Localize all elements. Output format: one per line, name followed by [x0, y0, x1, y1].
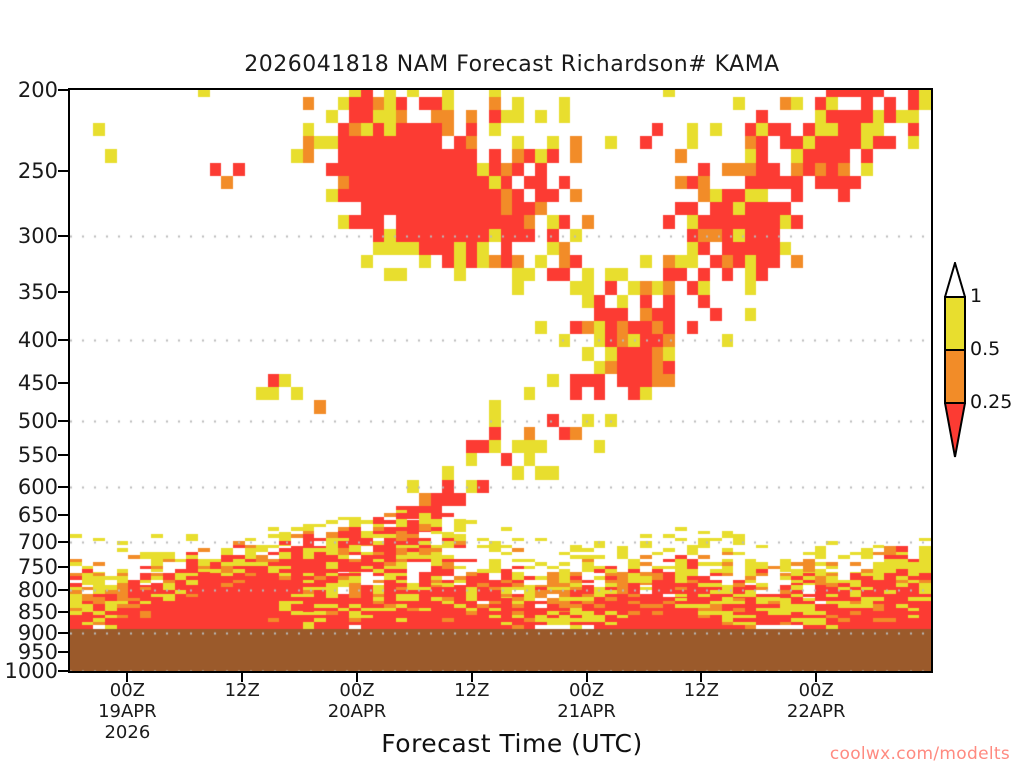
y-axis-tick-mark — [58, 514, 68, 516]
x-axis-tick-mark — [471, 673, 473, 682]
y-axis-tick-mark — [58, 670, 68, 672]
x-axis-tick-mark — [815, 673, 817, 682]
y-axis-tick-mark — [58, 651, 68, 653]
x-axis-tick-label: 12Z — [684, 680, 719, 701]
y-axis-tick-mark — [58, 291, 68, 293]
y-axis-tick-label: 550 — [18, 443, 58, 467]
y-axis-tick-mark — [58, 235, 68, 237]
heatmap-canvas — [70, 90, 931, 671]
colorbar-tick-label: 1 — [970, 285, 982, 307]
x-axis-tick-line: 00Z — [98, 680, 157, 701]
y-axis-tick-label: 650 — [18, 503, 58, 527]
x-axis-tick-line: 12Z — [225, 680, 260, 701]
colorbar-divider — [944, 349, 966, 351]
y-axis-tick-label: 800 — [18, 578, 58, 602]
y-axis-tick-mark — [58, 454, 68, 456]
y-axis-tick-mark — [58, 486, 68, 488]
y-axis-tick-label: 200 — [18, 78, 58, 102]
y-axis-tick-label: 700 — [18, 530, 58, 554]
y-axis-tick-mark — [58, 566, 68, 568]
y-axis-tick-mark — [58, 89, 68, 91]
y-axis-tick-mark — [58, 589, 68, 591]
page-title: 2026041818 NAM Forecast Richardson# KAMA — [0, 52, 1024, 77]
colorbar-arrow-up-icon — [944, 262, 966, 298]
colorbar-tick-label: 0.5 — [970, 338, 1000, 360]
x-axis-tick-line: 12Z — [454, 680, 489, 701]
x-axis-tick-line: 22APR — [787, 701, 846, 722]
x-axis-tick-line: 19APR — [98, 701, 157, 722]
x-axis-tick-mark — [241, 673, 243, 682]
y-axis: 2002503003504004505005506006507007508008… — [0, 0, 58, 768]
x-axis-tick-line: 00Z — [328, 680, 387, 701]
x-axis-tick-label: 00Z22APR — [787, 680, 846, 722]
colorbar-divider — [944, 296, 966, 298]
y-axis-tick-label: 400 — [18, 328, 58, 352]
x-axis-tick-label: 12Z — [225, 680, 260, 701]
watermark: coolwx.com/modelts — [830, 744, 1010, 764]
y-axis-tick-mark — [58, 170, 68, 172]
y-axis-tick-label: 450 — [18, 371, 58, 395]
colorbar-arrow-down-icon — [944, 402, 966, 438]
chart-root: 2026041818 NAM Forecast Richardson# KAMA… — [0, 0, 1024, 768]
x-axis-tick-mark — [586, 673, 588, 682]
x-axis-tick-mark — [700, 673, 702, 682]
plot-area — [68, 88, 933, 673]
colorbar-band — [944, 349, 966, 402]
x-axis-tick-line: 21APR — [557, 701, 616, 722]
y-axis-tick-mark — [58, 611, 68, 613]
y-axis-tick-mark — [58, 420, 68, 422]
y-axis-tick-mark — [58, 541, 68, 543]
x-axis-tick-label: 12Z — [454, 680, 489, 701]
x-axis-tick-line: 00Z — [557, 680, 616, 701]
colorbar-legend: 10.50.25 — [944, 296, 966, 456]
colorbar-divider — [944, 402, 966, 404]
x-axis-tick-line: 20APR — [328, 701, 387, 722]
x-axis-tick-mark — [356, 673, 358, 682]
y-axis-tick-label: 500 — [18, 409, 58, 433]
y-axis-tick-mark — [58, 632, 68, 634]
x-axis-tick-label: 00Z20APR — [328, 680, 387, 722]
x-axis-tick-line: 12Z — [684, 680, 719, 701]
y-axis-tick-label: 1000 — [5, 659, 58, 683]
colorbar-band — [944, 296, 966, 349]
colorbar-tick-label: 0.25 — [970, 391, 1012, 413]
y-axis-tick-label: 300 — [18, 224, 58, 248]
y-axis-tick-label: 750 — [18, 555, 58, 579]
y-axis-tick-mark — [58, 382, 68, 384]
y-axis-tick-mark — [58, 339, 68, 341]
x-axis-tick-mark — [126, 673, 128, 682]
y-axis-tick-label: 250 — [18, 159, 58, 183]
y-axis-tick-label: 600 — [18, 475, 58, 499]
y-axis-tick-label: 350 — [18, 280, 58, 304]
x-axis-tick-label: 00Z21APR — [557, 680, 616, 722]
x-axis-tick-line: 00Z — [787, 680, 846, 701]
